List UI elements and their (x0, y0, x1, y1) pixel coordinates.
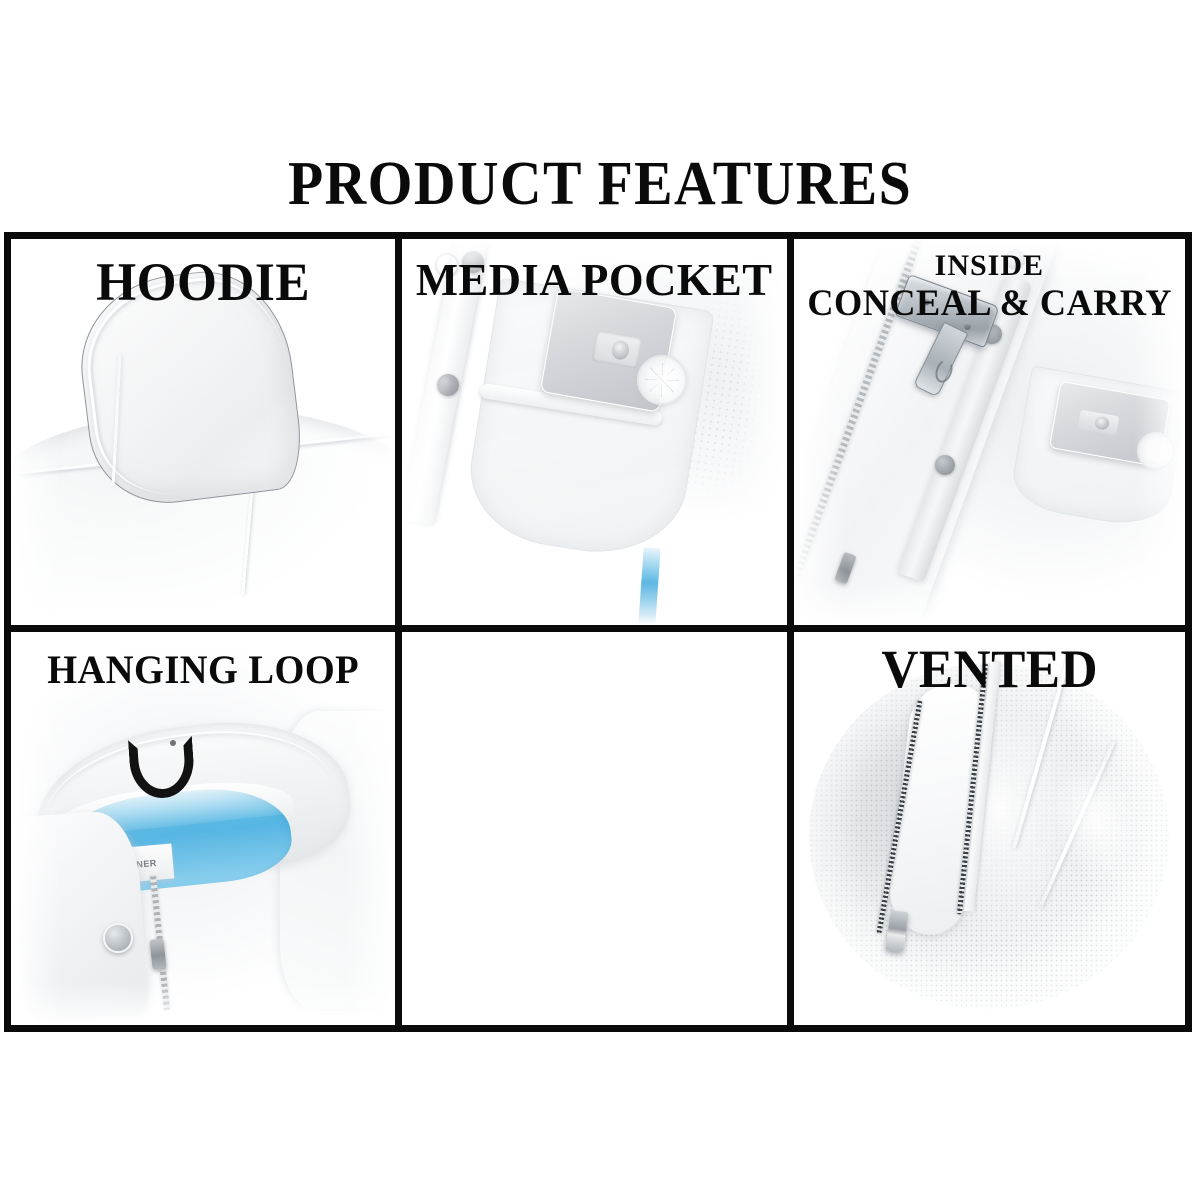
feature-cell-media-pocket[interactable]: MEDIA POCKET (402, 239, 793, 632)
hoodie-photo (11, 239, 395, 625)
conceal-carry-photo (794, 239, 1185, 625)
product-features-page: PRODUCT FEATURES HOODIE (0, 0, 1200, 1200)
feature-cell-conceal-carry[interactable]: INSIDE CONCEAL & CARRY (794, 239, 1185, 632)
page-title: PRODUCT FEATURES (42, 152, 1158, 216)
snap-ring (1005, 249, 1026, 270)
snap-button (437, 374, 459, 396)
media-pocket-photo (402, 239, 786, 625)
snap-button (103, 923, 133, 953)
feature-grid: HOODIE MEDIA POCKET (4, 232, 1192, 1032)
snap-button (462, 251, 484, 273)
collar-lapel (12, 809, 149, 1021)
feature-cell-hoodie[interactable]: HOODIE (11, 239, 402, 632)
vented-photo (794, 632, 1185, 1025)
feature-cell-empty (402, 632, 793, 1025)
feature-cell-vented[interactable]: VENTED (794, 632, 1185, 1025)
feature-cell-hanging-loop[interactable]: ZIP-OUT LINER HANGING LOOP (11, 632, 402, 1025)
hanging-loop-photo: ZIP-OUT LINER (11, 632, 395, 1025)
snap-button (935, 455, 955, 475)
grommet-vent-icon (1137, 432, 1175, 470)
snap-ring (435, 253, 459, 277)
grommet-vent-icon (637, 355, 687, 405)
